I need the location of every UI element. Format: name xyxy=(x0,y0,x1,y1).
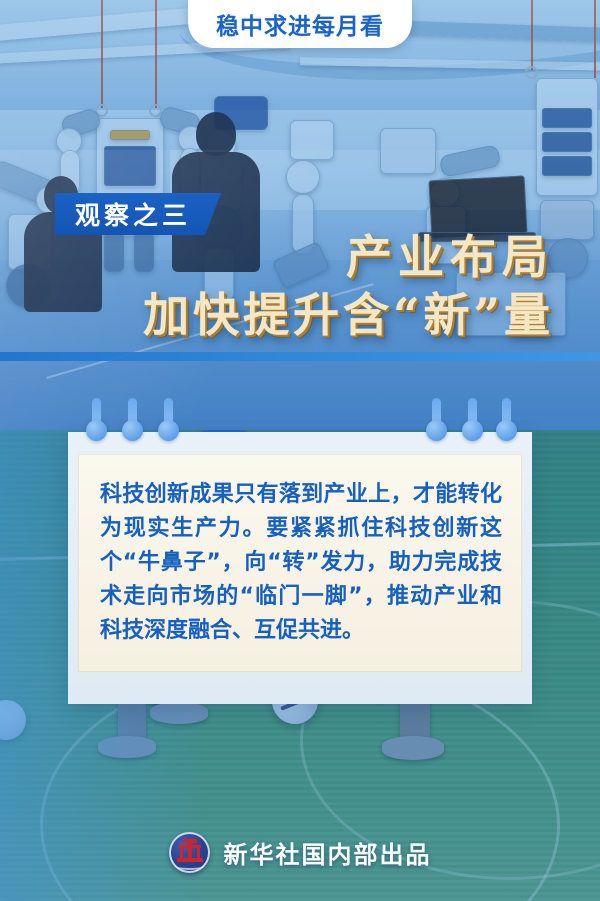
pin-right-1 xyxy=(430,398,443,441)
quote-card: 科技创新成果只有落到产业上，才能转化为现实生产力。要紧紧抓住科技创新这个“牛鼻子… xyxy=(68,432,532,704)
pin-right-3 xyxy=(500,398,513,441)
pin-knob-icon xyxy=(426,420,447,441)
pin-knob-icon xyxy=(462,420,483,441)
top-badge-label: 稳中求进每月看 xyxy=(216,7,384,41)
pin-right-2 xyxy=(466,398,479,441)
horizontal-color-band xyxy=(0,352,600,361)
logo-ring-text xyxy=(173,860,206,870)
pin-knob-icon xyxy=(122,420,143,441)
pin-knob-icon xyxy=(158,420,179,441)
page-title-line-2: 加快提升含“新”量 xyxy=(0,286,554,344)
pin-left-3 xyxy=(162,398,175,441)
page-title-line-1: 产业布局 xyxy=(0,228,554,286)
page-title: 产业布局 加快提升含“新”量 xyxy=(0,228,600,344)
pin-knob-icon xyxy=(86,420,107,441)
footer: 新华社国内部出品 xyxy=(0,826,600,878)
logo-emblem-part xyxy=(183,839,197,843)
quote-card-inner: 科技创新成果只有落到产业上，才能转化为现实生产力。要紧紧抓住科技创新这个“牛鼻子… xyxy=(78,454,522,672)
card-pin-group xyxy=(0,398,600,444)
pin-left-1 xyxy=(90,398,103,441)
xinhua-logo-icon xyxy=(169,832,210,873)
pin-left-2 xyxy=(126,398,139,441)
footer-label: 新华社国内部出品 xyxy=(224,835,432,870)
poster-root: 稳中求进每月看 观察之三 产业布局 加快提升含“新”量 xyxy=(0,0,600,901)
quote-text: 科技创新成果只有落到产业上，才能转化为现实生产力。要紧紧抓住科技创新这个“牛鼻子… xyxy=(100,478,502,648)
top-badge-pill: 稳中求进每月看 xyxy=(188,0,412,48)
observation-ribbon-label: 观察之三 xyxy=(75,196,191,232)
pin-knob-icon xyxy=(496,420,517,441)
